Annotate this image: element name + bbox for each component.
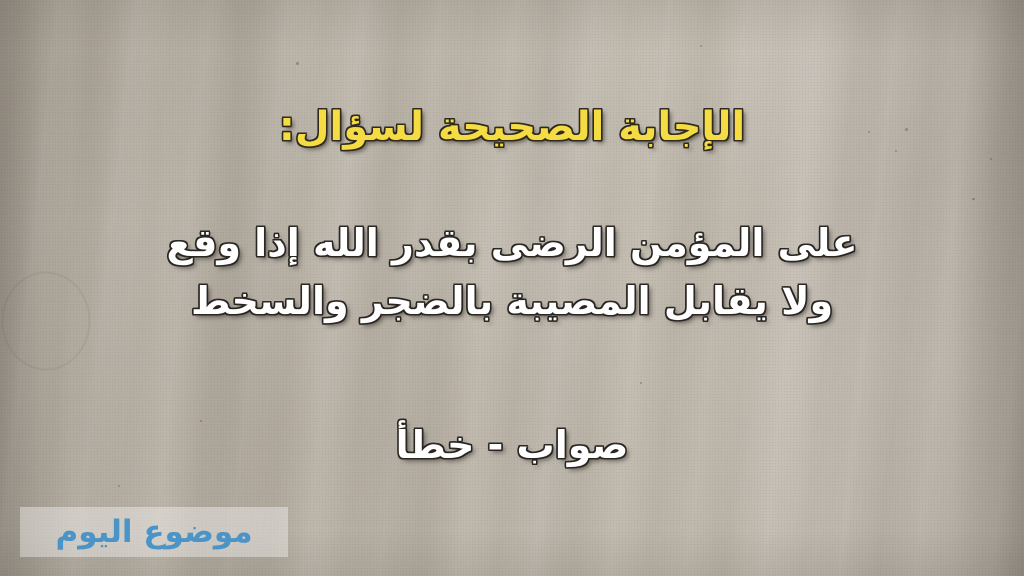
question-line-2: ولا يقابل المصيبة بالضجر والسخط xyxy=(0,273,1024,331)
text-content: الإجابة الصحيحة لسؤال: على المؤمن الرضى … xyxy=(0,0,1024,576)
watermark-label: موضوع اليوم xyxy=(55,517,252,548)
question-block: على المؤمن الرضى بقدر الله إذا وقع ولا ي… xyxy=(0,215,1024,331)
image-canvas: الإجابة الصحيحة لسؤال: على المؤمن الرضى … xyxy=(0,0,1024,576)
watermark-badge: موضوع اليوم xyxy=(20,507,288,557)
page-title: الإجابة الصحيحة لسؤال: xyxy=(0,104,1024,150)
question-line-1: على المؤمن الرضى بقدر الله إذا وقع xyxy=(0,215,1024,273)
answer-options: صواب - خطأ xyxy=(0,423,1024,467)
